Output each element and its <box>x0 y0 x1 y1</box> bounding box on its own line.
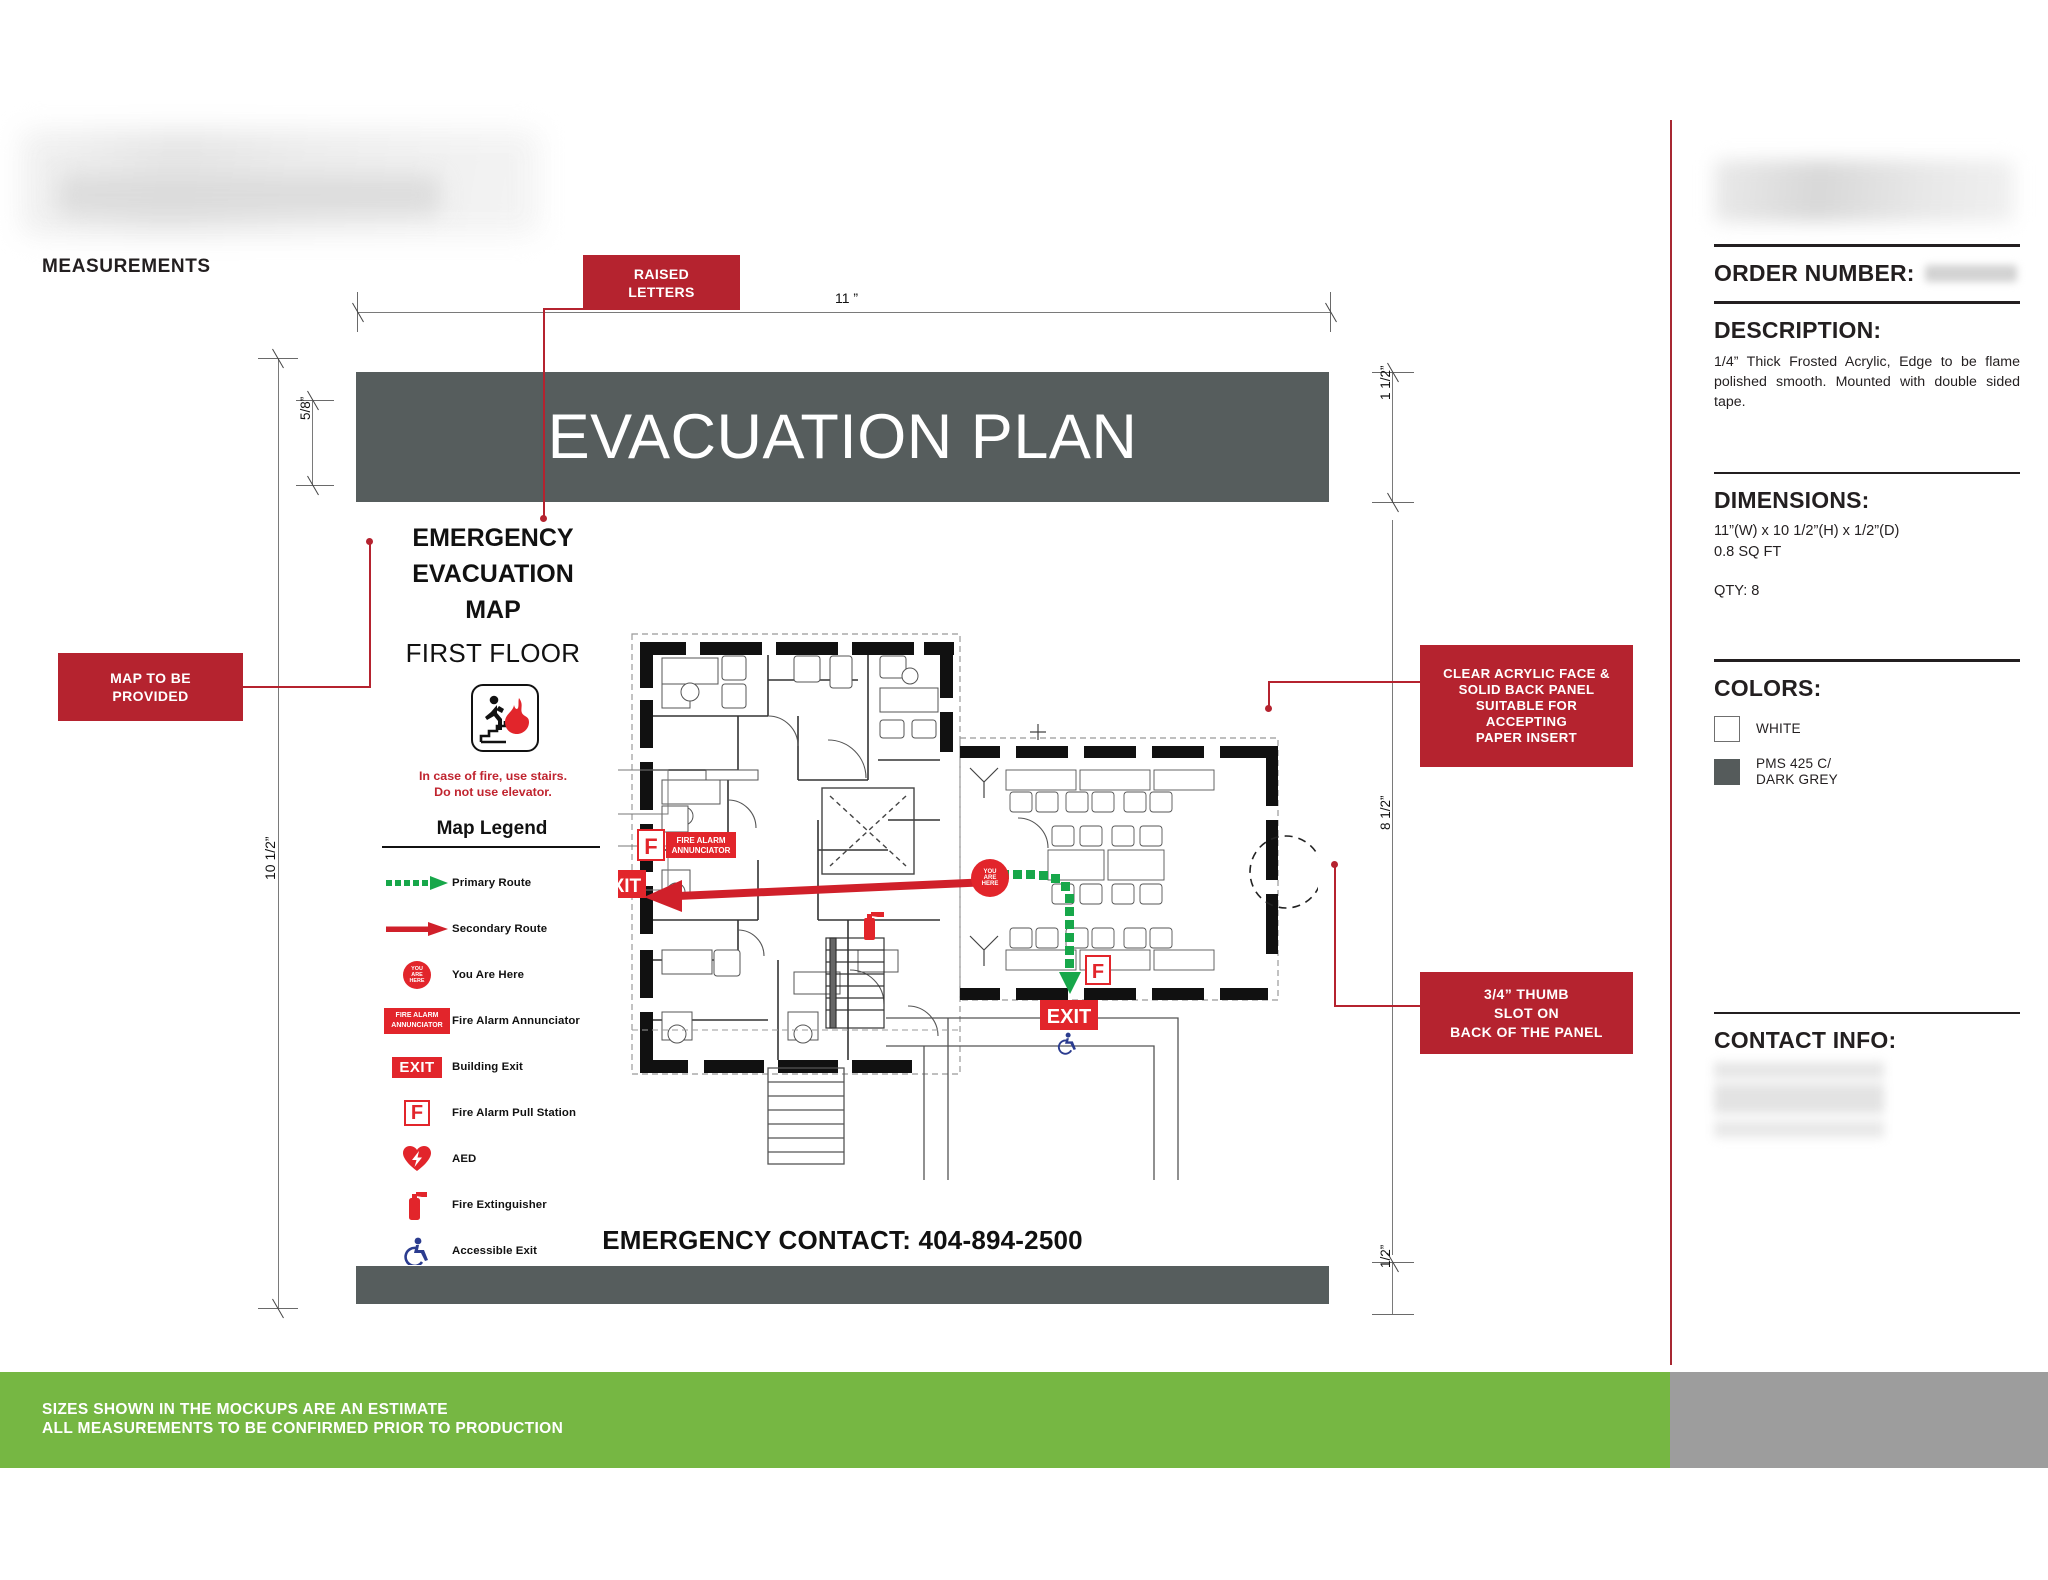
brand-logo-redacted-text <box>60 175 440 215</box>
green-dashed-arrow-icon <box>382 876 452 890</box>
dimension-label-header-height: 1 1/2” <box>1378 365 1393 400</box>
legend-label: Building Exit <box>452 1061 523 1073</box>
callout-line-1: RAISED <box>628 265 695 283</box>
leader-line-raised <box>543 308 585 310</box>
svg-text:F: F <box>1092 961 1104 983</box>
yah-line-3: HERE <box>410 978 425 984</box>
legend-label: Fire Extinguisher <box>452 1199 547 1211</box>
floor-plan-drawing: YOU ARE HERE FIRE ALARM ANNUNCIATOR F EX… <box>618 620 1318 1200</box>
fire-extinguisher-icon <box>382 1190 452 1220</box>
dimension-line-width <box>358 312 1331 313</box>
legend-item-fire-alarm-annunciator: FIRE ALARM ANNUNCIATOR Fire Alarm Annunc… <box>382 998 612 1044</box>
legend-item-fire-alarm-pull-station: F Fire Alarm Pull Station <box>382 1090 612 1136</box>
panel-logo-redacted <box>1714 160 2014 222</box>
callout-line-2: SLOT ON <box>1450 1004 1603 1023</box>
dimension-ext <box>296 485 334 486</box>
legend-label: Secondary Route <box>452 923 547 935</box>
emergency-map-title: EMERGENCY EVACUATION MAP <box>378 520 608 628</box>
leader-line-clear-v <box>1268 681 1270 708</box>
description-text: 1/4” Thick Frosted Acrylic, Edge to be f… <box>1714 352 2020 412</box>
svg-text:EXIT: EXIT <box>618 876 642 897</box>
colors-label: COLORS: <box>1714 674 2020 702</box>
svg-text:F: F <box>644 834 657 859</box>
leader-line-raised-v <box>543 308 545 518</box>
callout-line-2: SOLID BACK PANEL <box>1443 682 1610 698</box>
emergency-title-line-3: MAP <box>378 592 608 628</box>
legend-item-secondary-route: Secondary Route <box>382 906 612 952</box>
legend-item-you-are-here: YOU ARE HERE You Are Here <box>382 952 612 998</box>
color-name-line-1: PMS 425 C/ <box>1756 756 1838 772</box>
panel-rule <box>1714 659 2020 662</box>
leader-line-thumb <box>1334 1005 1424 1007</box>
svg-text:HERE: HERE <box>982 881 999 887</box>
emergency-contact-text: EMERGENCY CONTACT: 404-894-2500 <box>356 1225 1329 1256</box>
fire-alarm-pull-station-icon: F <box>382 1100 452 1126</box>
dimension-label-footer-height: 1/2” <box>1378 1245 1393 1268</box>
fire-instruction-note: In case of fire, use stairs. Do not use … <box>378 768 608 800</box>
color-swatch-dark-grey <box>1714 759 1740 785</box>
footer-grey-bar <box>1670 1372 2048 1468</box>
leader-dot <box>366 538 373 545</box>
footer-line-2: ALL MEASUREMENTS TO BE CONFIRMED PRIOR T… <box>42 1419 1670 1438</box>
callout-line-2: PROVIDED <box>110 687 191 705</box>
callout-line-4: ACCEPTING <box>1443 714 1610 730</box>
exit-badge-label: EXIT <box>392 1057 441 1078</box>
emergency-title-line-1: EMERGENCY <box>378 520 608 556</box>
callout-line-1: CLEAR ACRYLIC FACE & <box>1443 666 1610 682</box>
sign-body: EMERGENCY EVACUATION MAP FIRST FLOOR In … <box>356 502 1329 1304</box>
color-swatch-row-dark-grey: PMS 425 C/ DARK GREY <box>1714 756 2020 788</box>
aed-heart-icon <box>382 1146 452 1172</box>
fire-stairs-pictogram-icon <box>471 684 539 752</box>
legend-label: Fire Alarm Annunciator <box>452 1015 580 1027</box>
order-number-value-redacted <box>1925 265 2017 282</box>
contact-info-redacted <box>1714 1062 1884 1154</box>
callout-line-1: MAP TO BE <box>110 669 191 687</box>
mockup-page: MEASUREMENTS 11 ” 10 1/2” 5/8” 1 1/2” 8 … <box>0 0 2048 1580</box>
legend-label: Fire Alarm Pull Station <box>452 1107 576 1119</box>
dimension-ext <box>1372 1314 1414 1315</box>
pull-station-letter: F <box>404 1100 430 1126</box>
dimension-label-map-height: 8 1/2” <box>1378 795 1393 830</box>
color-name-line-2: DARK GREY <box>1756 772 1838 788</box>
legend-list: Primary Route Secondary Route <box>382 860 612 1274</box>
legend-label: Primary Route <box>452 877 531 889</box>
legend-item-primary-route: Primary Route <box>382 860 612 906</box>
floor-label: FIRST FLOOR <box>378 638 608 669</box>
dimension-label-letter-height: 5/8” <box>298 397 313 420</box>
leader-line-map <box>243 686 370 688</box>
you-are-here-icon: YOU ARE HERE <box>382 961 452 989</box>
footer-disclaimer-bar: SIZES SHOWN IN THE MOCKUPS ARE AN ESTIMA… <box>0 1372 1670 1468</box>
exit-sign-icon: EXIT <box>382 1057 452 1078</box>
callout-line-5: PAPER INSERT <box>1443 730 1610 746</box>
dimensions-line-2: 0.8 SQ FT <box>1714 542 2020 563</box>
color-name-white: WHITE <box>1756 721 1801 737</box>
quantity-text: QTY: 8 <box>1714 583 2020 599</box>
callout-map-to-be-provided: MAP TO BE PROVIDED <box>58 653 243 721</box>
callout-thumb-slot: 3/4” THUMB SLOT ON BACK OF THE PANEL <box>1420 972 1633 1054</box>
red-arrow-icon <box>382 922 452 936</box>
callout-line-3: BACK OF THE PANEL <box>1450 1023 1603 1042</box>
annunciator-line-1: FIRE ALARM <box>386 1011 448 1021</box>
dimension-label-overall-height: 10 1/2” <box>262 836 278 880</box>
dimension-line-overall-height <box>278 358 279 1308</box>
legend-divider <box>382 846 600 848</box>
leader-dot <box>1331 861 1338 868</box>
legend-item-aed: AED <box>382 1136 612 1182</box>
svg-text:EXIT: EXIT <box>1047 1006 1091 1028</box>
leader-line-map-v <box>369 540 371 688</box>
dimensions-label: DIMENSIONS: <box>1714 486 2020 514</box>
legend-item-fire-extinguisher: Fire Extinguisher <box>382 1182 612 1228</box>
description-label: DESCRIPTION: <box>1714 316 2020 344</box>
fire-alarm-annunciator-icon: FIRE ALARM ANNUNCIATOR <box>382 1008 452 1034</box>
order-number-label: ORDER NUMBER: <box>1714 259 1915 287</box>
dimensions-line-1: 11”(W) x 10 1/2”(H) x 1/2”(D) <box>1714 521 2020 542</box>
panel-rule <box>1714 301 2020 304</box>
panel-rule <box>1714 244 2020 247</box>
svg-text:FIRE ALARM: FIRE ALARM <box>676 836 725 845</box>
footer-line-1: SIZES SHOWN IN THE MOCKUPS ARE AN ESTIMA… <box>42 1400 1670 1419</box>
color-swatch-white <box>1714 716 1740 742</box>
page-section-title: MEASUREMENTS <box>42 256 211 278</box>
contact-info-label: CONTACT INFO: <box>1714 1026 2020 1054</box>
annunciator-line-2: ANNUNCIATOR <box>386 1021 448 1031</box>
spec-info-panel: ORDER NUMBER: DESCRIPTION: 1/4” Thick Fr… <box>1714 160 2020 1154</box>
panel-rule <box>1714 472 2020 475</box>
dimension-line-footer-height <box>1392 1262 1393 1314</box>
leader-dot <box>1265 705 1272 712</box>
leader-line-clear <box>1268 681 1422 683</box>
callout-line-1: 3/4” THUMB <box>1450 985 1603 1004</box>
callout-line-3: SUITABLE FOR <box>1443 698 1610 714</box>
callout-clear-acrylic: CLEAR ACRYLIC FACE & SOLID BACK PANEL SU… <box>1420 645 1633 767</box>
legend-title: Map Legend <box>392 818 592 840</box>
svg-text:ANNUNCIATOR: ANNUNCIATOR <box>672 846 731 855</box>
sign-header-bar: EVACUATION PLAN <box>356 372 1329 502</box>
legend-label: You Are Here <box>452 969 524 981</box>
dimension-label-width: 11 ” <box>835 290 858 306</box>
order-number-row: ORDER NUMBER: <box>1714 259 2020 287</box>
callout-raised-letters: RAISED LETTERS <box>583 255 740 310</box>
sign-mockup: EVACUATION PLAN EMERGENCY EVACUATION MAP… <box>356 372 1329 1304</box>
callout-line-2: LETTERS <box>628 283 695 301</box>
color-name-dark-grey: PMS 425 C/ DARK GREY <box>1756 756 1838 788</box>
panel-divider <box>1670 120 1672 1365</box>
leader-dot <box>540 515 547 522</box>
dimension-line-map-height <box>1392 520 1393 1255</box>
panel-rule <box>1714 1012 2020 1015</box>
fire-note-line-2: Do not use elevator. <box>378 784 608 800</box>
legend-item-building-exit: EXIT Building Exit <box>382 1044 612 1090</box>
legend-label: AED <box>452 1153 476 1165</box>
color-swatch-row-white: WHITE <box>1714 716 2020 742</box>
leader-line-thumb-v <box>1334 864 1336 1006</box>
emergency-title-line-2: EVACUATION <box>378 556 608 592</box>
fire-note-line-1: In case of fire, use stairs. <box>378 768 608 784</box>
sign-title: EVACUATION PLAN <box>548 401 1138 473</box>
sign-footer-bar <box>356 1266 1329 1304</box>
